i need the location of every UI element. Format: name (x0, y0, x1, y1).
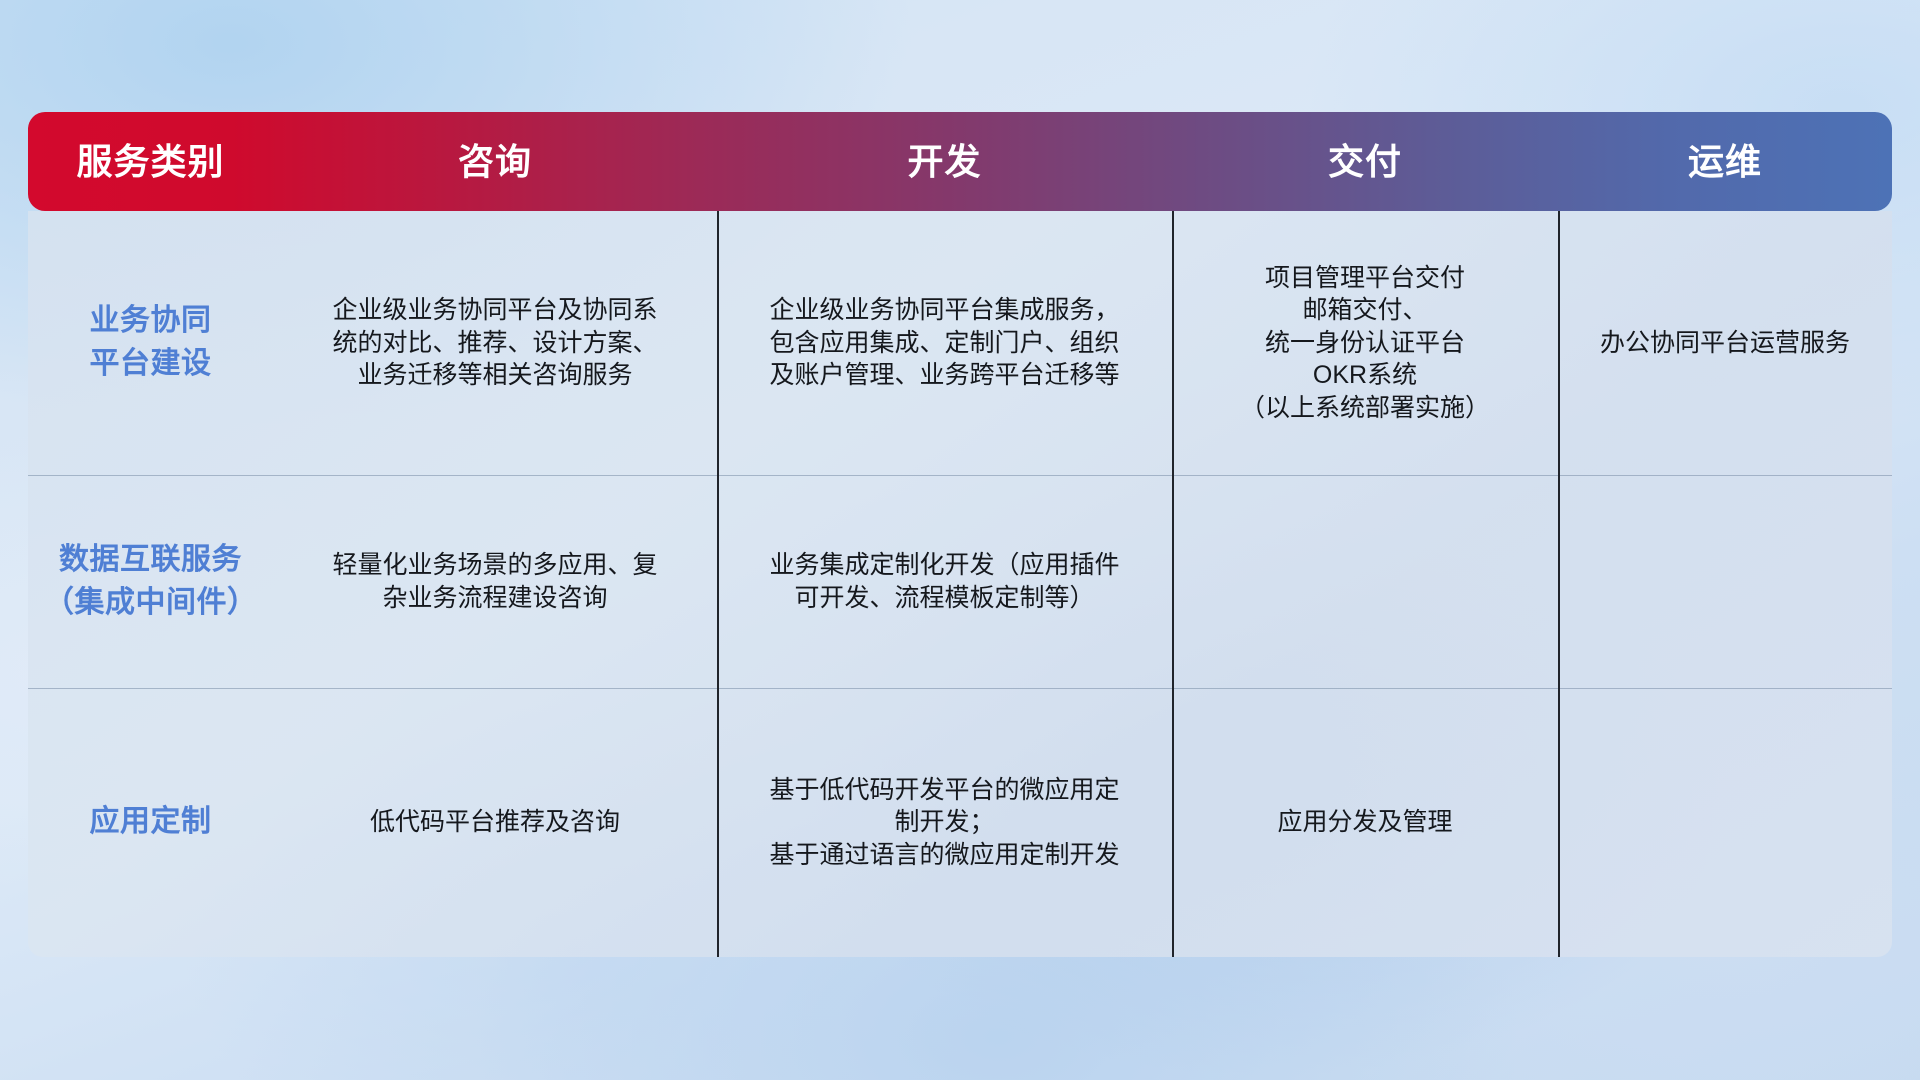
column-header-operations: 运维 (1558, 144, 1892, 180)
table-body: 业务协同 平台建设 企业级业务协同平台及协同系 统的对比、推荐、设计方案、 业务… (28, 211, 1892, 957)
table-header-row: 服务类别 咨询 开发 交付 运维 (28, 112, 1892, 211)
column-divider-2 (1172, 211, 1174, 957)
cell-development-row1: 企业级业务协同平台集成服务， 包含应用集成、定制门户、组织 及账户管理、业务跨平… (717, 211, 1172, 475)
column-divider-3 (1558, 211, 1560, 957)
column-header-delivery: 交付 (1172, 144, 1558, 180)
column-header-consulting: 咨询 (273, 144, 717, 180)
column-header-category: 服务类别 (28, 144, 273, 180)
cell-consulting-row2: 轻量化业务场景的多应用、复 杂业务流程建设咨询 (273, 475, 717, 688)
row-label-data-integration: 数据互联服务 （集成中间件） (28, 475, 273, 688)
column-header-development: 开发 (717, 144, 1172, 180)
cell-consulting-row3: 低代码平台推荐及咨询 (273, 688, 717, 957)
cell-delivery-row2 (1172, 475, 1558, 688)
column-divider-1 (717, 211, 719, 957)
table-row: 数据互联服务 （集成中间件） 轻量化业务场景的多应用、复 杂业务流程建设咨询 业… (28, 475, 1892, 688)
row-label-app-customization: 应用定制 (28, 688, 273, 957)
row-divider-1 (28, 475, 1892, 476)
cell-delivery-row3: 应用分发及管理 (1172, 688, 1558, 957)
cell-delivery-row1: 项目管理平台交付 邮箱交付、 统一身份认证平台 OKR系统 （以上系统部署实施） (1172, 211, 1558, 475)
cell-consulting-row1: 企业级业务协同平台及协同系 统的对比、推荐、设计方案、 业务迁移等相关咨询服务 (273, 211, 717, 475)
cell-development-row3: 基于低代码开发平台的微应用定 制开发； 基于通过语言的微应用定制开发 (717, 688, 1172, 957)
cell-operations-row2 (1558, 475, 1892, 688)
table-row: 应用定制 低代码平台推荐及咨询 基于低代码开发平台的微应用定 制开发； 基于通过… (28, 688, 1892, 957)
service-matrix-table: 服务类别 咨询 开发 交付 运维 业务协同 平台建设 企业级业务协同平台及协同系… (28, 112, 1892, 957)
cell-development-row2: 业务集成定制化开发（应用插件 可开发、流程模板定制等） (717, 475, 1172, 688)
cell-operations-row3 (1558, 688, 1892, 957)
row-divider-2 (28, 688, 1892, 689)
table-row: 业务协同 平台建设 企业级业务协同平台及协同系 统的对比、推荐、设计方案、 业务… (28, 211, 1892, 475)
row-label-business-collaboration: 业务协同 平台建设 (28, 211, 273, 475)
cell-operations-row1: 办公协同平台运营服务 (1558, 211, 1892, 475)
